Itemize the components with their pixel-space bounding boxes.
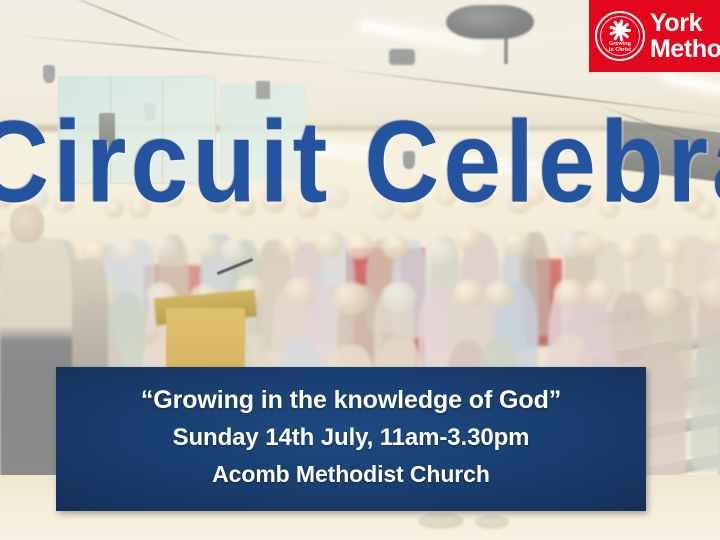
crowd-person-head <box>426 238 455 265</box>
crowd-person-head <box>383 282 416 312</box>
emblem-text-line-2: in Christ <box>597 48 643 54</box>
crowd-person-head <box>198 238 221 260</box>
banner-datetime-line: Sunday 14th July, 11am-3.30pm <box>173 424 530 452</box>
poster-slide: Circuit Celebration Growing in Christ <box>0 0 720 540</box>
hanging-speaker <box>43 65 55 83</box>
growing-in-christ-emblem-icon: Growing in Christ <box>595 11 645 61</box>
ceiling-projector-secondary <box>389 49 415 65</box>
floor-object <box>418 513 464 529</box>
crowd-person <box>691 337 720 471</box>
crowd-person-head <box>345 232 374 259</box>
york-methodist-logo: Growing in Christ York Metho <box>589 0 720 72</box>
emblem-text: Growing in Christ <box>597 42 643 54</box>
crowd-person-head <box>279 235 302 257</box>
crowd-person-head <box>315 230 344 257</box>
crowd-person-head <box>576 232 603 257</box>
logo-brand-line-1: York <box>650 10 720 36</box>
event-details-banner: “Growing in the knowledge of God” Sunday… <box>56 367 646 511</box>
cross-icon <box>614 22 627 35</box>
crowd-person-head <box>644 287 677 318</box>
crowd-person-head <box>484 281 513 308</box>
banner-theme-line: “Growing in the knowledge of God” <box>141 386 561 415</box>
crowd-person-head <box>456 226 484 252</box>
page-title: Circuit Celebration <box>0 104 720 220</box>
projector-mount <box>504 38 508 64</box>
logo-brand-line-2: Metho <box>650 36 720 62</box>
crowd-person-head <box>333 282 368 315</box>
logo-wordmark: York Metho <box>650 10 720 62</box>
banner-venue-line: Acomb Methodist Church <box>212 461 490 488</box>
crowd-person-head <box>221 239 245 262</box>
crowd-person-head <box>152 234 178 258</box>
crowd-person-head <box>502 231 530 257</box>
crowd-person-head <box>381 234 407 259</box>
ceiling-projector <box>446 5 534 39</box>
crowd-person-head <box>554 279 585 308</box>
crowd-person-head <box>454 280 483 308</box>
